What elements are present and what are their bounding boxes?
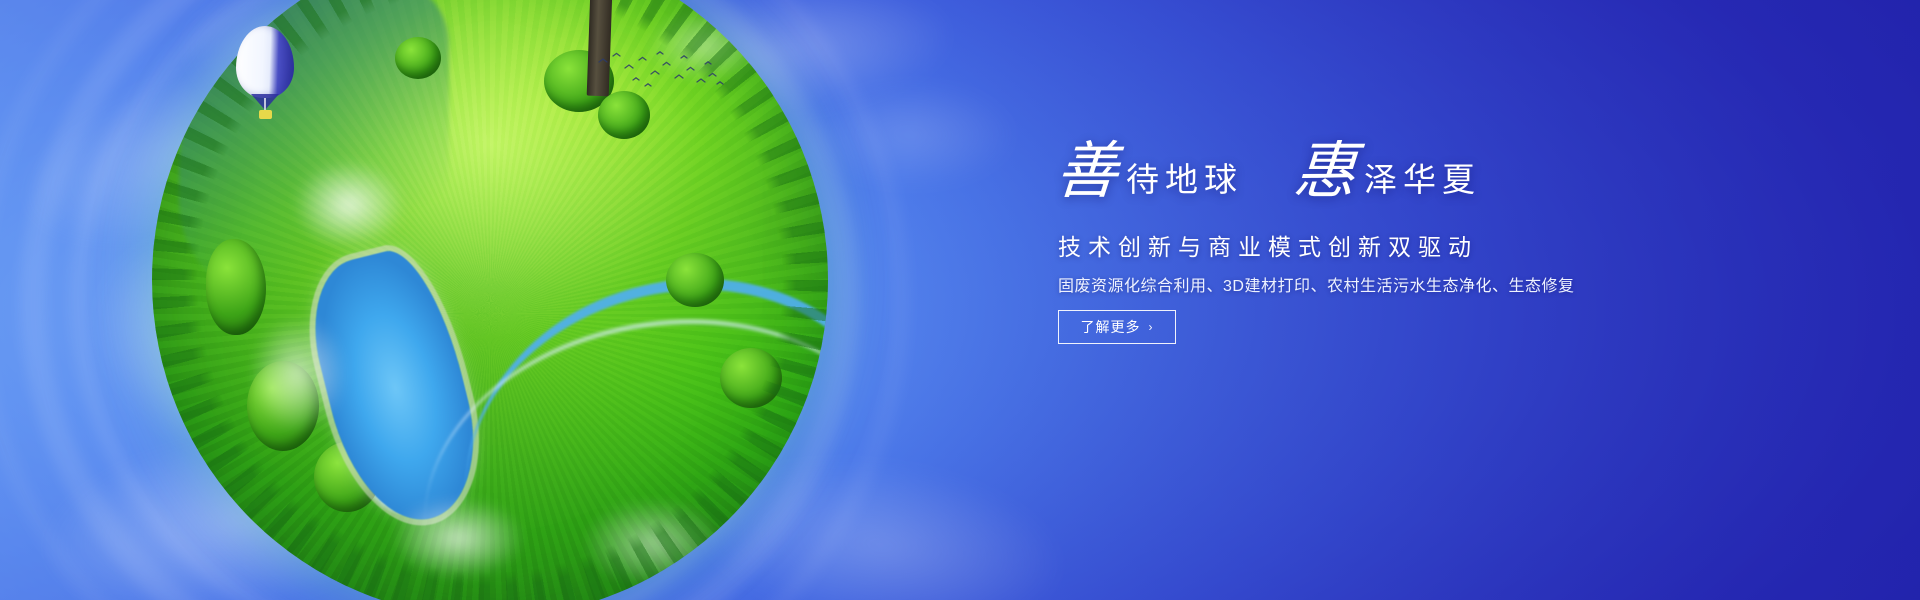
chevron-right-icon: ›: [1149, 320, 1154, 334]
birds-flock-icon: [595, 48, 725, 92]
balloon-basket: [259, 110, 272, 119]
learn-more-label: 了解更多: [1081, 317, 1141, 337]
hero-subtitle: 技术创新与商业模式创新双驱动: [1058, 228, 1478, 262]
headline-char-big: 惠: [1292, 140, 1358, 202]
headline-chars-small: 泽华夏: [1364, 163, 1481, 202]
headline-chars-small: 待地球: [1126, 163, 1243, 202]
page-title: 善 待地球 惠 泽华夏: [1056, 140, 1656, 216]
hero-banner: 善 待地球 惠 泽华夏 技术创新与商业模式创新双驱动 固废资源化综合利用、3D建…: [0, 0, 1920, 600]
headline-char-big: 善: [1054, 140, 1120, 202]
hero-content: 善 待地球 惠 泽华夏 技术创新与商业模式创新双驱动 固废资源化综合利用、3D建…: [1040, 0, 1660, 600]
balloon-envelope: [236, 26, 294, 98]
hot-air-balloon-icon: [236, 26, 294, 122]
headline-phrase-1: 善 待地球: [1056, 140, 1243, 202]
headline-phrase-2: 惠 泽华夏: [1294, 140, 1481, 202]
learn-more-button[interactable]: 了解更多 ›: [1058, 310, 1176, 344]
hero-description: 固废资源化综合利用、3D建材打印、农村生活污水生态净化、生态修复: [1058, 272, 1574, 296]
